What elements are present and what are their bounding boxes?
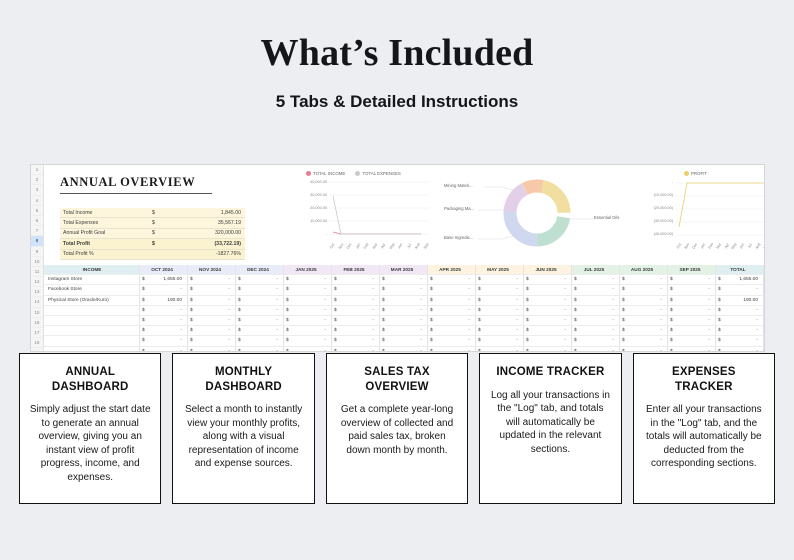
table-cell[interactable]: $-	[524, 336, 572, 346]
table-cell[interactable]: $-	[188, 316, 236, 326]
table-cell[interactable]: $-	[380, 296, 428, 306]
table-cell[interactable]: $-	[188, 285, 236, 295]
row-number[interactable]: 15	[31, 308, 43, 318]
table-cell[interactable]: $-	[188, 306, 236, 316]
column-header[interactable]: OCT 2024	[140, 265, 188, 275]
table-cell[interactable]: $-	[428, 316, 476, 326]
table-cell[interactable]: $-	[140, 285, 188, 295]
table-cell[interactable]: $-	[284, 326, 332, 336]
table-cell[interactable]: $-	[380, 275, 428, 285]
table-cell[interactable]: $-	[332, 336, 380, 346]
profit-chart-x-axis: OctNovDecJanFebMarAprMayJunJulAugSep	[675, 244, 765, 248]
row-total-cell[interactable]: $-	[716, 306, 764, 316]
table-cell[interactable]: $-	[572, 296, 620, 306]
row-number[interactable]: 5	[31, 206, 43, 216]
table-cell[interactable]: $-	[620, 306, 668, 316]
table-cell[interactable]: $-	[572, 336, 620, 346]
row-number[interactable]: 2	[31, 175, 43, 185]
row-number[interactable]: 10	[31, 257, 43, 267]
row-number[interactable]: 9	[31, 247, 43, 257]
table-cell[interactable]: $-	[380, 347, 428, 353]
table-cell[interactable]: $-	[332, 306, 380, 316]
feature-card-body: Simply adjust the start date to generate…	[29, 403, 151, 484]
column-header[interactable]: DEC 2024	[236, 265, 284, 275]
summary-currency: $	[152, 210, 166, 216]
row-number[interactable]: 12	[31, 277, 43, 287]
row-label[interactable]	[44, 306, 140, 316]
table-cell[interactable]: $-	[524, 347, 572, 353]
table-cell[interactable]: $-	[140, 326, 188, 336]
row-label[interactable]: Facebook Store	[44, 285, 140, 295]
table-cell[interactable]: $-	[620, 347, 668, 353]
summary-label: Total Profit %	[60, 251, 152, 257]
table-cell[interactable]: $-	[428, 347, 476, 353]
table-cell[interactable]: $-	[284, 336, 332, 346]
table-cell[interactable]: $-	[668, 275, 716, 285]
feature-card-body: Log all your transactions in the "Log" t…	[489, 389, 611, 457]
annual-overview-title: ANNUAL OVERVIEW	[60, 175, 195, 190]
table-cell[interactable]: $-	[428, 275, 476, 285]
row-label[interactable]	[44, 316, 140, 326]
table-cell[interactable]: $-	[572, 275, 620, 285]
row-number[interactable]: 14	[31, 297, 43, 307]
table-cell[interactable]: $-	[476, 275, 524, 285]
feature-cards: ANNUAL DASHBOARDSimply adjust the start …	[19, 353, 775, 504]
table-cell[interactable]: $-	[620, 285, 668, 295]
summary-value: 35,567.19	[166, 220, 245, 226]
table-cell[interactable]: $-	[428, 336, 476, 346]
table-cell[interactable]: $-	[428, 285, 476, 295]
table-cell[interactable]: $-	[236, 347, 284, 353]
table-cell[interactable]: $-	[476, 306, 524, 316]
row-number[interactable]: 1	[31, 165, 43, 175]
table-cell[interactable]: $-	[140, 336, 188, 346]
table-cell[interactable]: $-	[332, 316, 380, 326]
row-total-cell[interactable]: $-	[716, 347, 764, 353]
row-total-cell[interactable]: $1,655.00	[716, 275, 764, 285]
row-number[interactable]: 3	[31, 185, 43, 195]
line-chart-plot	[302, 180, 430, 244]
table-cell[interactable]: $-	[668, 326, 716, 336]
legend-total-expenses: TOTAL EXPENSES	[355, 171, 400, 176]
title-underline	[60, 193, 212, 194]
table-header-row: INCOMEOCT 2024NOV 2024DEC 2024JAN 2025FE…	[44, 265, 764, 275]
feature-card: MONTHLY DASHBOARDSelect a month to insta…	[172, 353, 314, 504]
table-cell[interactable]: $-	[476, 285, 524, 295]
table-cell[interactable]: $-	[428, 296, 476, 306]
table-cell[interactable]: $-	[140, 347, 188, 353]
table-cell[interactable]: $-	[476, 336, 524, 346]
table-cell[interactable]: $-	[188, 336, 236, 346]
row-label[interactable]	[44, 347, 140, 353]
table-cell[interactable]: $-	[236, 306, 284, 316]
row-label[interactable]	[44, 336, 140, 346]
table-cell[interactable]: $-	[380, 285, 428, 295]
table-row[interactable]: Facebook Store$-$-$-$-$-$-$-$-$-$-$-$-$-	[44, 285, 764, 295]
column-header[interactable]: JUL 2025	[572, 265, 620, 275]
summary-row[interactable]: Total Expenses$35,567.19	[60, 218, 245, 228]
table-cell[interactable]: $-	[332, 347, 380, 353]
feature-card-title: EXPENSES TRACKER	[643, 365, 765, 394]
column-header[interactable]: MAY 2025	[476, 265, 524, 275]
feature-card-title: ANNUAL DASHBOARD	[29, 365, 151, 394]
summary-row[interactable]: Total Income$1,845.00	[60, 208, 245, 218]
legend-total-income: TOTAL INCOME	[306, 171, 345, 176]
column-header[interactable]: APR 2025	[428, 265, 476, 275]
table-cell[interactable]: $-	[188, 275, 236, 285]
feature-card-body: Select a month to instantly view your mo…	[182, 403, 304, 471]
table-cell[interactable]: $-	[332, 326, 380, 336]
table-cell[interactable]: $-	[668, 285, 716, 295]
profit-chart-plot	[644, 180, 765, 244]
column-header[interactable]: MAR 2025	[380, 265, 428, 275]
summary-currency: $	[152, 220, 166, 226]
page-title: What’s Included	[0, 31, 794, 75]
table-cell[interactable]: $-	[284, 285, 332, 295]
row-total-cell[interactable]: $-	[716, 285, 764, 295]
table-cell[interactable]: $-	[668, 296, 716, 306]
table-cell[interactable]: $-	[620, 316, 668, 326]
table-cell[interactable]: $-	[236, 326, 284, 336]
table-cell[interactable]: $-	[524, 326, 572, 336]
table-cell[interactable]: $-	[284, 296, 332, 306]
table-cell[interactable]: $-	[476, 316, 524, 326]
row-number[interactable]: 8	[31, 236, 43, 246]
row-number[interactable]: 17	[31, 328, 43, 338]
summary-row[interactable]: Annual Profit Goal$320,000.00	[60, 229, 245, 239]
table-cell[interactable]: $-	[572, 285, 620, 295]
spreadsheet-body: ANNUAL OVERVIEW Total Income$1,845.00Tot…	[44, 165, 764, 351]
table-cell[interactable]: $-	[284, 306, 332, 316]
table-cell[interactable]: $190.00	[140, 296, 188, 306]
row-number[interactable]: 7	[31, 226, 43, 236]
table-cell[interactable]: $-	[476, 347, 524, 353]
summary-row[interactable]: Total Profit %-1827.76%	[60, 250, 245, 260]
table-cell[interactable]: $-	[236, 285, 284, 295]
feature-card: EXPENSES TRACKEREnter all your transacti…	[633, 353, 775, 504]
row-number[interactable]: 16	[31, 318, 43, 328]
table-cell[interactable]: $-	[572, 326, 620, 336]
feature-card-body: Enter all your transactions in the "Log"…	[643, 403, 765, 471]
table-row[interactable]: Physical Store (Oracle/Kuro)$190.00$-$-$…	[44, 296, 764, 306]
summary-label: Total Profit	[60, 241, 152, 247]
column-header[interactable]: JAN 2025	[284, 265, 332, 275]
table-cell[interactable]: $-	[380, 306, 428, 316]
row-total-cell[interactable]: $-	[716, 326, 764, 336]
table-cell[interactable]: $-	[332, 285, 380, 295]
row-number[interactable]: 4	[31, 196, 43, 206]
table-row[interactable]: $-$-$-$-$-$-$-$-$-$-$-$-$-	[44, 306, 764, 316]
table-cell[interactable]: $-	[524, 306, 572, 316]
table-cell[interactable]: $-	[380, 336, 428, 346]
table-cell[interactable]: $-	[140, 306, 188, 316]
income-expenses-line-chart: TOTAL INCOME TOTAL EXPENSES 40,000.0030,…	[302, 171, 430, 257]
summary-currency: $	[152, 230, 166, 236]
page-subtitle: 5 Tabs & Detailed Instructions	[0, 92, 794, 112]
table-cell[interactable]: $-	[188, 326, 236, 336]
donut-label-packaging: Packaging Ma...	[444, 206, 474, 211]
income-table: INCOMEOCT 2024NOV 2024DEC 2024JAN 2025FE…	[44, 265, 764, 352]
table-cell[interactable]: $-	[524, 275, 572, 285]
row-total-cell[interactable]: $190.00	[716, 296, 764, 306]
table-cell[interactable]: $-	[668, 316, 716, 326]
table-cell[interactable]: $-	[428, 306, 476, 316]
table-row[interactable]: $-$-$-$-$-$-$-$-$-$-$-$-$-	[44, 326, 764, 336]
table-cell[interactable]: $-	[188, 296, 236, 306]
table-cell[interactable]: $-	[284, 316, 332, 326]
table-cell[interactable]: $-	[236, 336, 284, 346]
column-header[interactable]: NOV 2024	[188, 265, 236, 275]
table-cell[interactable]: $-	[572, 306, 620, 316]
table-cell[interactable]: $-	[284, 347, 332, 353]
row-total-cell[interactable]: $-	[716, 316, 764, 326]
feature-card-body: Get a complete year-long overview of col…	[336, 403, 458, 457]
feature-card: INCOME TRACKERLog all your transactions …	[479, 353, 621, 504]
line-chart-legend: TOTAL INCOME TOTAL EXPENSES	[302, 171, 430, 176]
feature-card: SALES TAX OVERVIEWGet a complete year-lo…	[326, 353, 468, 504]
feature-card: ANNUAL DASHBOARDSimply adjust the start …	[19, 353, 161, 504]
profit-chart-legend: PROFIT	[644, 171, 765, 176]
summary-label: Annual Profit Goal	[60, 230, 152, 236]
column-header[interactable]: TOTAL	[716, 265, 764, 275]
summary-value: 1,845.00	[166, 210, 245, 216]
donut-label-essential-oils: Essential Oils	[594, 215, 619, 220]
feature-card-title: SALES TAX OVERVIEW	[336, 365, 458, 394]
table-row[interactable]: $-$-$-$-$-$-$-$-$-$-$-$-$-	[44, 347, 764, 353]
table-cell[interactable]: $-	[332, 296, 380, 306]
table-cell[interactable]: $-	[524, 316, 572, 326]
row-label[interactable]: Instagram Store	[44, 275, 140, 285]
feature-card-title: MONTHLY DASHBOARD	[182, 365, 304, 394]
table-cell[interactable]: $-	[668, 306, 716, 316]
row-number[interactable]: 18	[31, 338, 43, 348]
donut-label-mining: Mining Materi...	[444, 183, 473, 188]
table-cell[interactable]: $1,655.00	[140, 275, 188, 285]
table-cell[interactable]: $-	[236, 275, 284, 285]
summary-value: (33,722.19)	[166, 241, 245, 247]
profit-line-chart: PROFIT -(10,000.00)(20,000.00)(30,000.00…	[644, 171, 765, 257]
table-cell[interactable]: $-	[620, 296, 668, 306]
table-cell[interactable]: $-	[236, 296, 284, 306]
table-cell[interactable]: $-	[380, 316, 428, 326]
table-row[interactable]: $-$-$-$-$-$-$-$-$-$-$-$-$-	[44, 336, 764, 346]
table-row[interactable]: Instagram Store$1,655.00$-$-$-$-$-$-$-$-…	[44, 275, 764, 285]
table-row[interactable]: $-$-$-$-$-$-$-$-$-$-$-$-$-	[44, 316, 764, 326]
row-header-gutter: 123456789101112131415161718	[31, 165, 44, 351]
table-cell[interactable]: $-	[572, 347, 620, 353]
summary-currency: $	[152, 241, 166, 247]
table-cell[interactable]: $-	[620, 336, 668, 346]
row-number[interactable]: 13	[31, 287, 43, 297]
column-header[interactable]: AUG 2025	[620, 265, 668, 275]
table-cell[interactable]: $-	[236, 316, 284, 326]
summary-label: Total Expenses	[60, 220, 152, 226]
summary-row[interactable]: Total Profit$(33,722.19)	[60, 239, 245, 249]
table-cell[interactable]: $-	[524, 285, 572, 295]
summary-value: 320,000.00	[166, 230, 245, 236]
donut-label-base-ingredients: Base Ingredie...	[444, 235, 473, 240]
table-cell[interactable]: $-	[188, 347, 236, 353]
table-cell[interactable]: $-	[572, 316, 620, 326]
expense-donut-chart: Mining Materi... Packaging Ma... Essenti…	[444, 173, 630, 257]
summary-table: Total Income$1,845.00Total Expenses$35,5…	[60, 208, 245, 260]
table-cell[interactable]: $-	[668, 347, 716, 353]
table-cell[interactable]: $-	[620, 326, 668, 336]
feature-card-title: INCOME TRACKER	[489, 365, 611, 380]
summary-value: -1827.76%	[166, 251, 245, 257]
table-cell[interactable]: $-	[476, 326, 524, 336]
row-number[interactable]: 6	[31, 216, 43, 226]
row-total-cell[interactable]: $-	[716, 336, 764, 346]
column-header[interactable]: SEP 2025	[668, 265, 716, 275]
legend-profit: PROFIT	[684, 171, 707, 176]
spreadsheet-preview: 123456789101112131415161718 ANNUAL OVERV…	[30, 164, 765, 352]
column-header[interactable]: FEB 2025	[332, 265, 380, 275]
table-cell[interactable]: $-	[428, 326, 476, 336]
summary-label: Total Income	[60, 210, 152, 216]
table-cell[interactable]: $-	[284, 275, 332, 285]
table-cell[interactable]: $-	[140, 316, 188, 326]
table-cell[interactable]: $-	[476, 296, 524, 306]
table-cell[interactable]: $-	[380, 326, 428, 336]
table-cell[interactable]: $-	[332, 275, 380, 285]
table-cell[interactable]: $-	[620, 275, 668, 285]
table-cell[interactable]: $-	[668, 336, 716, 346]
row-number[interactable]: 11	[31, 267, 43, 277]
column-header[interactable]: INCOME	[44, 265, 140, 275]
table-cell[interactable]: $-	[524, 296, 572, 306]
line-chart-x-axis: OctNovDecJanFebMarAprMayJunJulAugSep	[328, 244, 430, 248]
column-header[interactable]: JUN 2025	[524, 265, 572, 275]
row-label[interactable]: Physical Store (Oracle/Kuro)	[44, 296, 140, 306]
row-label[interactable]	[44, 326, 140, 336]
